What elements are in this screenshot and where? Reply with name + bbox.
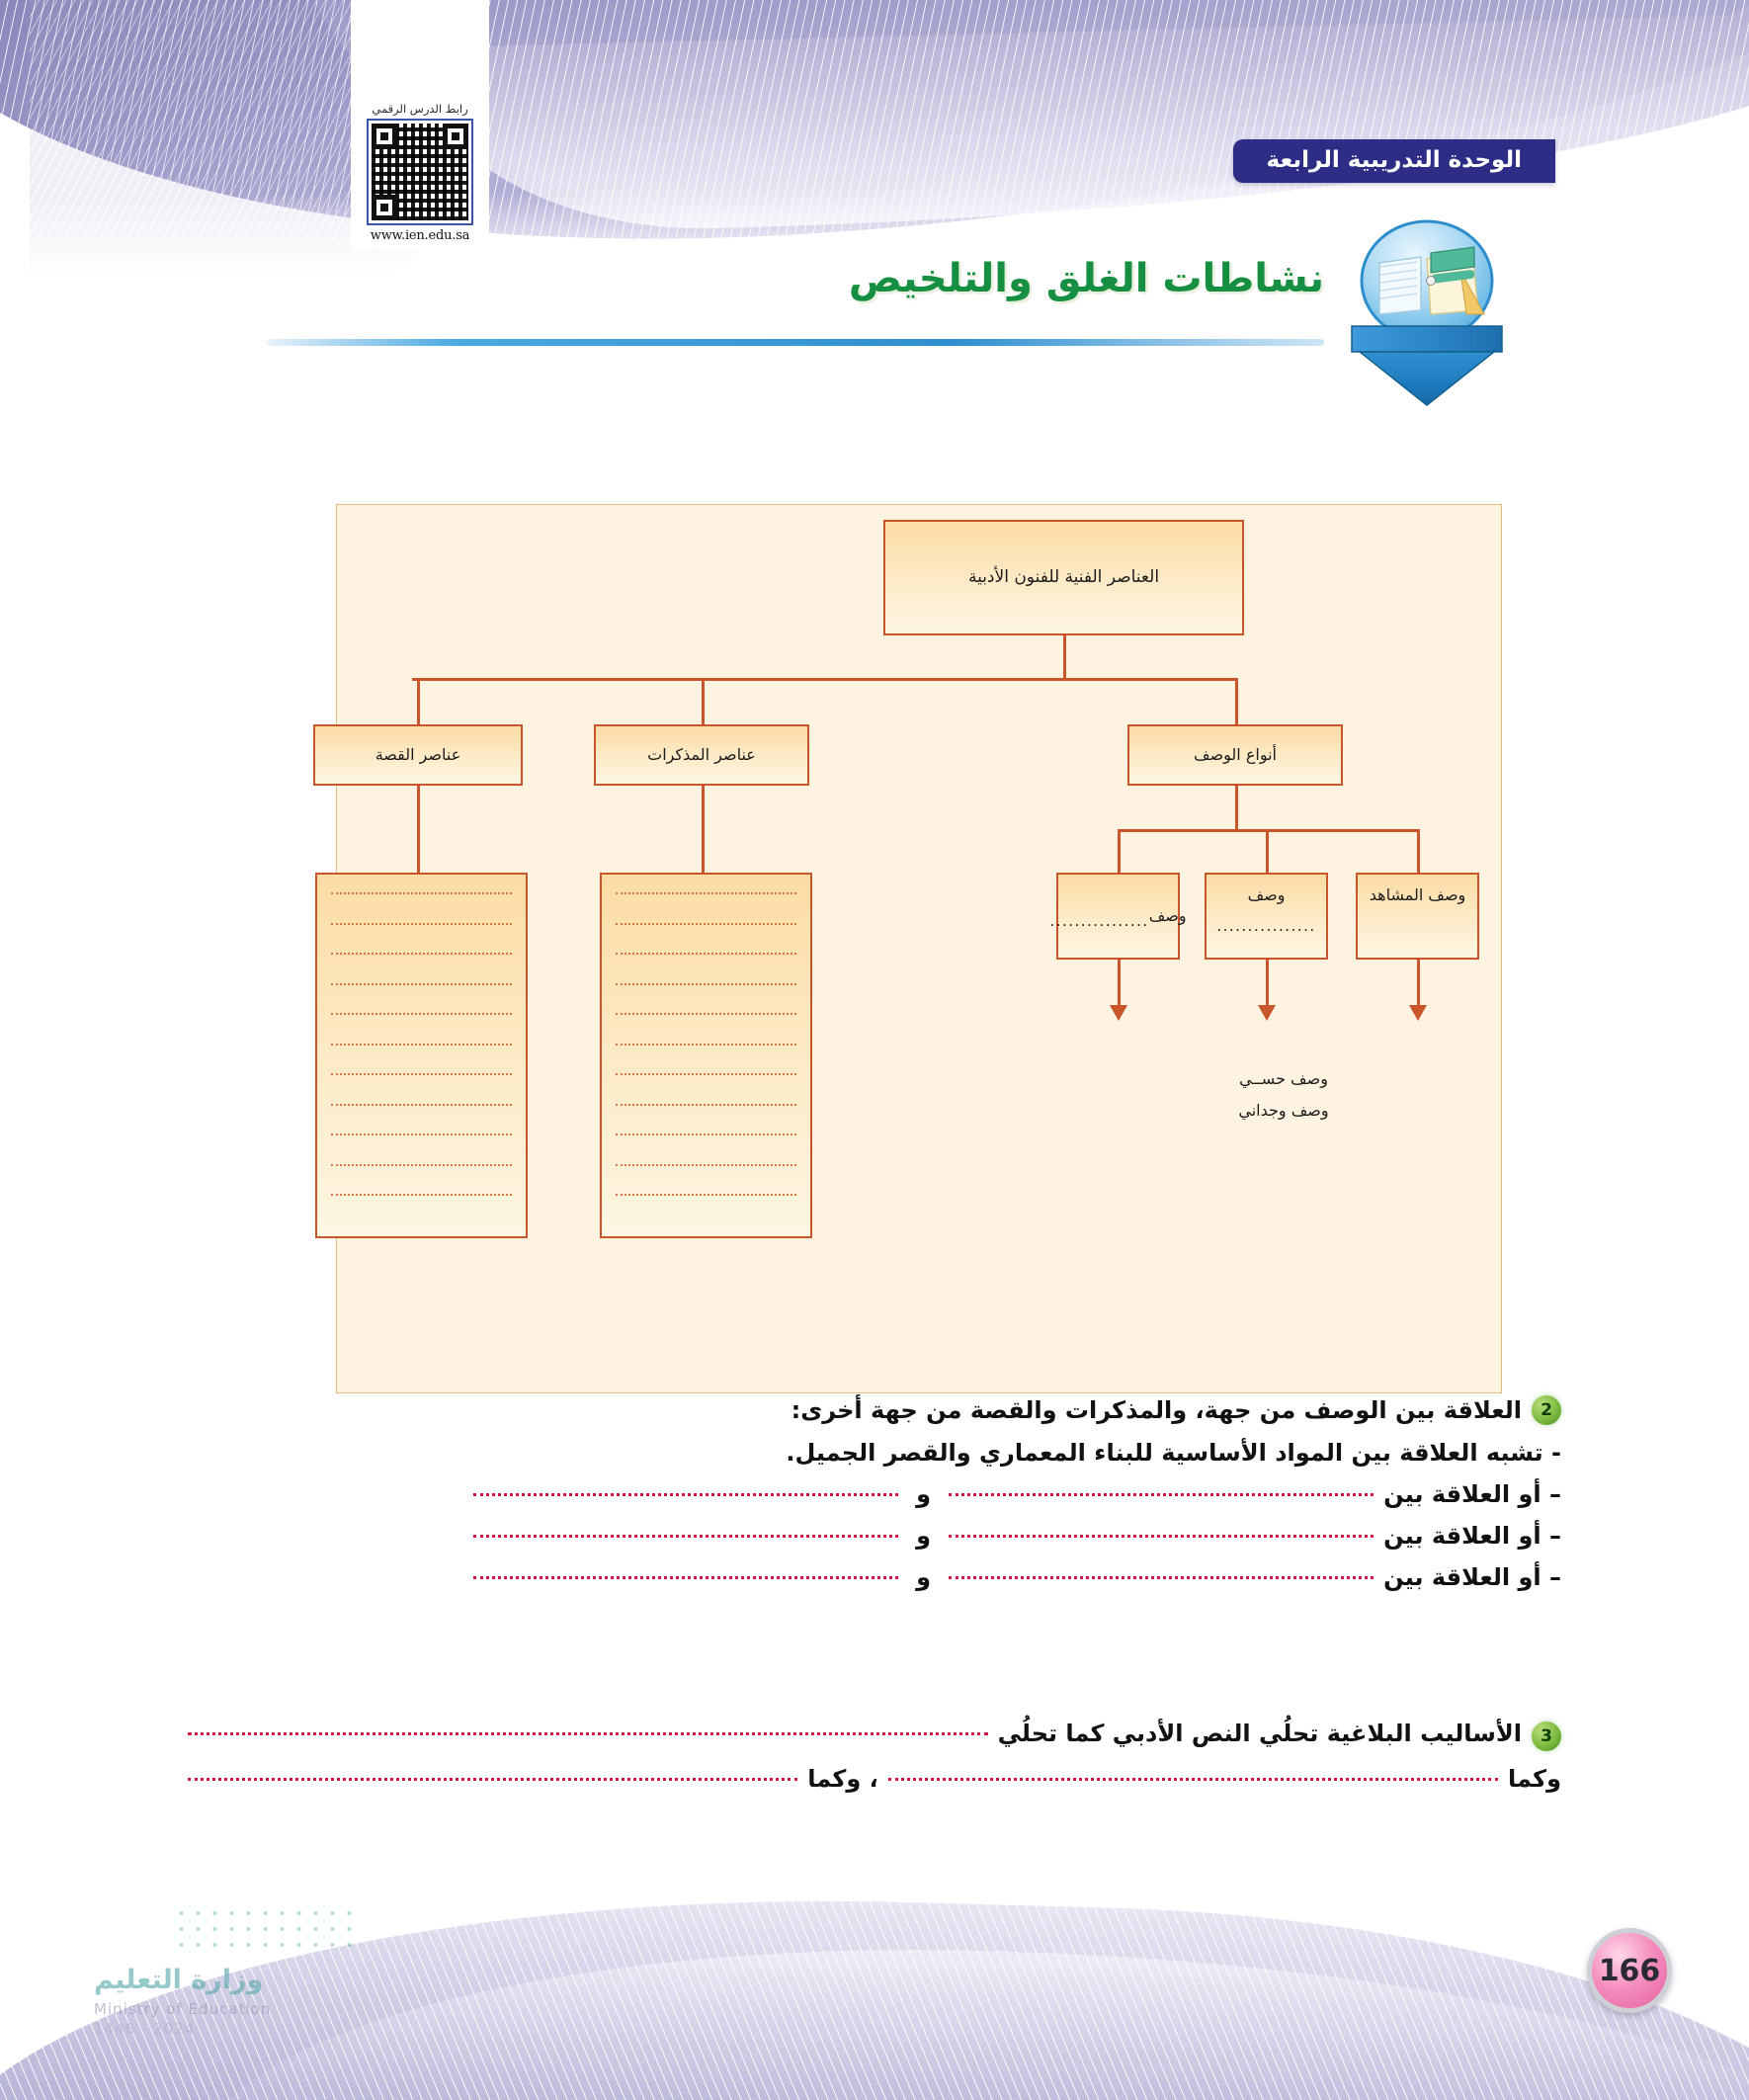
connector-root-stem — [1063, 635, 1066, 678]
footer-wave-secondary — [196, 1937, 1749, 2100]
leaf-label-emotional: وصف وجداني — [1125, 1098, 1442, 1124]
question-2-text: العلاقة بين الوصف من جهة، والمذكرات والق… — [791, 1396, 1522, 1424]
qr-finder-bottom-left — [372, 195, 397, 220]
qr-finder-top-left — [372, 124, 397, 149]
answer-line[interactable] — [616, 1134, 796, 1135]
node-description-type-3: وصف المشاهد — [1356, 873, 1479, 960]
connector-drop-memoir — [702, 678, 705, 724]
answer-box-story[interactable] — [315, 873, 528, 1238]
node-description-type-2-blank[interactable]: ................ — [1210, 916, 1322, 936]
node-description-type-1-blank[interactable]: ................ — [1049, 911, 1148, 931]
node-description-type-3-label: وصف المشاهد — [1370, 885, 1466, 904]
fill-row-3-blank-a[interactable] — [949, 1576, 1374, 1579]
arrow-down-icon-3 — [1409, 1005, 1427, 1021]
qr-code-icon[interactable] — [367, 119, 473, 225]
page-title: نشاطات الغلق والتلخيص — [849, 259, 1324, 298]
connector-horizontal-bus — [412, 678, 1238, 681]
node-description-type-2-label: وصف — [1248, 885, 1286, 904]
answer-line[interactable] — [616, 1164, 796, 1166]
answer-lines-memoir — [616, 892, 796, 1222]
ministry-dot-pattern — [173, 1905, 361, 1951]
digital-lesson-qr-card[interactable]: رابط الدرس الرقمي www.ien.edu.sa — [351, 0, 489, 249]
fill-row-1-label: – أو العلاقة بين — [1383, 1480, 1561, 1508]
fill-row-2-label: – أو العلاقة بين — [1383, 1522, 1561, 1550]
fill-row-3-blank-b[interactable] — [473, 1576, 898, 1579]
page-number-badge: 166 — [1587, 1928, 1672, 2013]
section-title-group: نشاطات الغلق والتلخيص — [849, 259, 1324, 298]
question-2-fill-row-3: – أو العلاقة بين و — [188, 1563, 1561, 1591]
answer-line[interactable] — [616, 1194, 796, 1196]
question-3-blank-a[interactable] — [188, 1732, 988, 1735]
connector-drop-story — [417, 678, 420, 724]
fill-row-2-conjunction: و — [908, 1522, 939, 1550]
question-3-block: 3 الأساليب البلاغية تحلُي النص الأدبي كم… — [188, 1720, 1561, 1793]
answer-line[interactable] — [331, 1194, 512, 1196]
question-3-tail-label-1: وكما — [1508, 1765, 1561, 1793]
node-memoir-elements: عناصر المذكرات — [594, 724, 809, 786]
qr-matrix — [372, 124, 468, 220]
qr-url: www.ien.edu.sa — [371, 228, 469, 243]
question-2-block: 2 العلاقة بين الوصف من جهة، والمذكرات وا… — [188, 1395, 1561, 1591]
answer-box-memoir[interactable] — [600, 873, 812, 1238]
question-3-blank-b[interactable] — [888, 1778, 1498, 1781]
answer-line[interactable] — [331, 953, 512, 955]
fill-row-1-conjunction: و — [908, 1480, 939, 1508]
textbook-page: رابط الدرس الرقمي www.ien.edu.sa الوحدة … — [0, 0, 1749, 2100]
connector-drop-description — [1235, 678, 1238, 724]
fill-row-1-blank-b[interactable] — [473, 1493, 898, 1496]
qr-finder-top-right — [443, 124, 468, 149]
answer-line[interactable] — [331, 892, 512, 894]
question-2-example: - تشبه العلاقة بين المواد الأساسية للبنا… — [188, 1439, 1561, 1467]
leaf-label-sensory: وصف حســي — [1125, 1066, 1442, 1092]
connector-drop-type-3 — [1417, 829, 1420, 873]
answer-line[interactable] — [331, 1044, 512, 1046]
connector-memoir-to-blanks — [702, 786, 705, 873]
answer-line[interactable] — [616, 1044, 796, 1046]
answer-line[interactable] — [616, 983, 796, 985]
connector-drop-type-2 — [1266, 829, 1269, 873]
ministry-year: 2024 - 1446 — [94, 2019, 271, 2039]
answer-line[interactable] — [331, 1104, 512, 1106]
connector-description-stem — [1235, 786, 1238, 829]
connector-arrow-stem-3 — [1417, 960, 1420, 1007]
answer-line[interactable] — [616, 892, 796, 894]
connector-story-to-blanks — [417, 786, 420, 873]
question-3-tail-row: وكما ، وكما — [188, 1765, 1561, 1793]
question-2-fill-row-1: – أو العلاقة بين و — [188, 1480, 1561, 1508]
question-3-text: الأساليب البلاغية تحلُي النص الأدبي كما … — [998, 1720, 1522, 1747]
qr-caption: رابط الدرس الرقمي — [372, 102, 467, 116]
question-2-heading: 2 العلاقة بين الوصف من جهة، والمذكرات وا… — [188, 1395, 1561, 1425]
answer-line[interactable] — [331, 1073, 512, 1075]
ministry-name-arabic: وزارة التعليم — [94, 1963, 271, 1998]
ministry-name-english: Ministry of Education — [94, 1999, 271, 2019]
node-root: العناصر الفنية للفنون الأدبية — [883, 520, 1244, 635]
answer-line[interactable] — [331, 1134, 512, 1135]
arrow-down-icon-2 — [1258, 1005, 1276, 1021]
question-3-tail-label-2: ، وكما — [807, 1765, 877, 1793]
node-story-elements: عناصر القصة — [313, 724, 523, 786]
answer-line[interactable] — [616, 1013, 796, 1015]
answer-line[interactable] — [616, 1073, 796, 1075]
answer-line[interactable] — [616, 1104, 796, 1106]
answer-line[interactable] — [616, 953, 796, 955]
header-wave-tertiary — [413, 12, 1749, 236]
connector-arrow-stem-2 — [1266, 960, 1269, 1007]
question-2-fill-row-2: – أو العلاقة بين و — [188, 1522, 1561, 1550]
answer-line[interactable] — [331, 923, 512, 925]
answer-line[interactable] — [331, 1013, 512, 1015]
node-description-types: أنواع الوصف — [1127, 724, 1343, 786]
answer-lines-story — [331, 892, 512, 1222]
connector-description-bus — [1118, 829, 1420, 832]
answer-line[interactable] — [616, 923, 796, 925]
arrow-down-icon-1 — [1110, 1005, 1127, 1021]
answer-line[interactable] — [331, 1164, 512, 1166]
unit-badge: الوحدة التدريبية الرابعة — [1233, 139, 1555, 183]
node-description-type-2[interactable]: وصف ................ — [1205, 873, 1328, 960]
node-description-type-1[interactable]: وصف ................ — [1056, 873, 1180, 960]
fill-row-3-label: – أو العلاقة بين — [1383, 1563, 1561, 1591]
question-3-number-badge: 3 — [1532, 1722, 1561, 1751]
title-underline-rule — [267, 339, 1324, 346]
question-3-blank-c[interactable] — [188, 1778, 797, 1781]
fill-row-3-conjunction: و — [908, 1563, 939, 1591]
header-wave-secondary — [291, 0, 1749, 237]
question-2-number-badge: 2 — [1532, 1395, 1561, 1425]
ministry-watermark: وزارة التعليم Ministry of Education 2024… — [94, 1963, 271, 2039]
connector-arrow-stem-1 — [1118, 960, 1121, 1007]
fill-row-2-blank-a[interactable] — [949, 1535, 1374, 1538]
concept-map-panel: العناصر الفنية للفنون الأدبية عناصر القص… — [336, 504, 1502, 1393]
node-description-type-1-label: وصف — [1149, 905, 1187, 927]
question-3-heading: 3 الأساليب البلاغية تحلُي النص الأدبي كم… — [188, 1720, 1561, 1751]
fill-row-2-blank-b[interactable] — [473, 1535, 898, 1538]
answer-line[interactable] — [331, 983, 512, 985]
connector-drop-type-1 — [1118, 829, 1121, 873]
page-edge-rule — [1736, 0, 1737, 30]
fill-row-1-blank-a[interactable] — [949, 1493, 1374, 1496]
open-book-icon — [1340, 219, 1514, 407]
